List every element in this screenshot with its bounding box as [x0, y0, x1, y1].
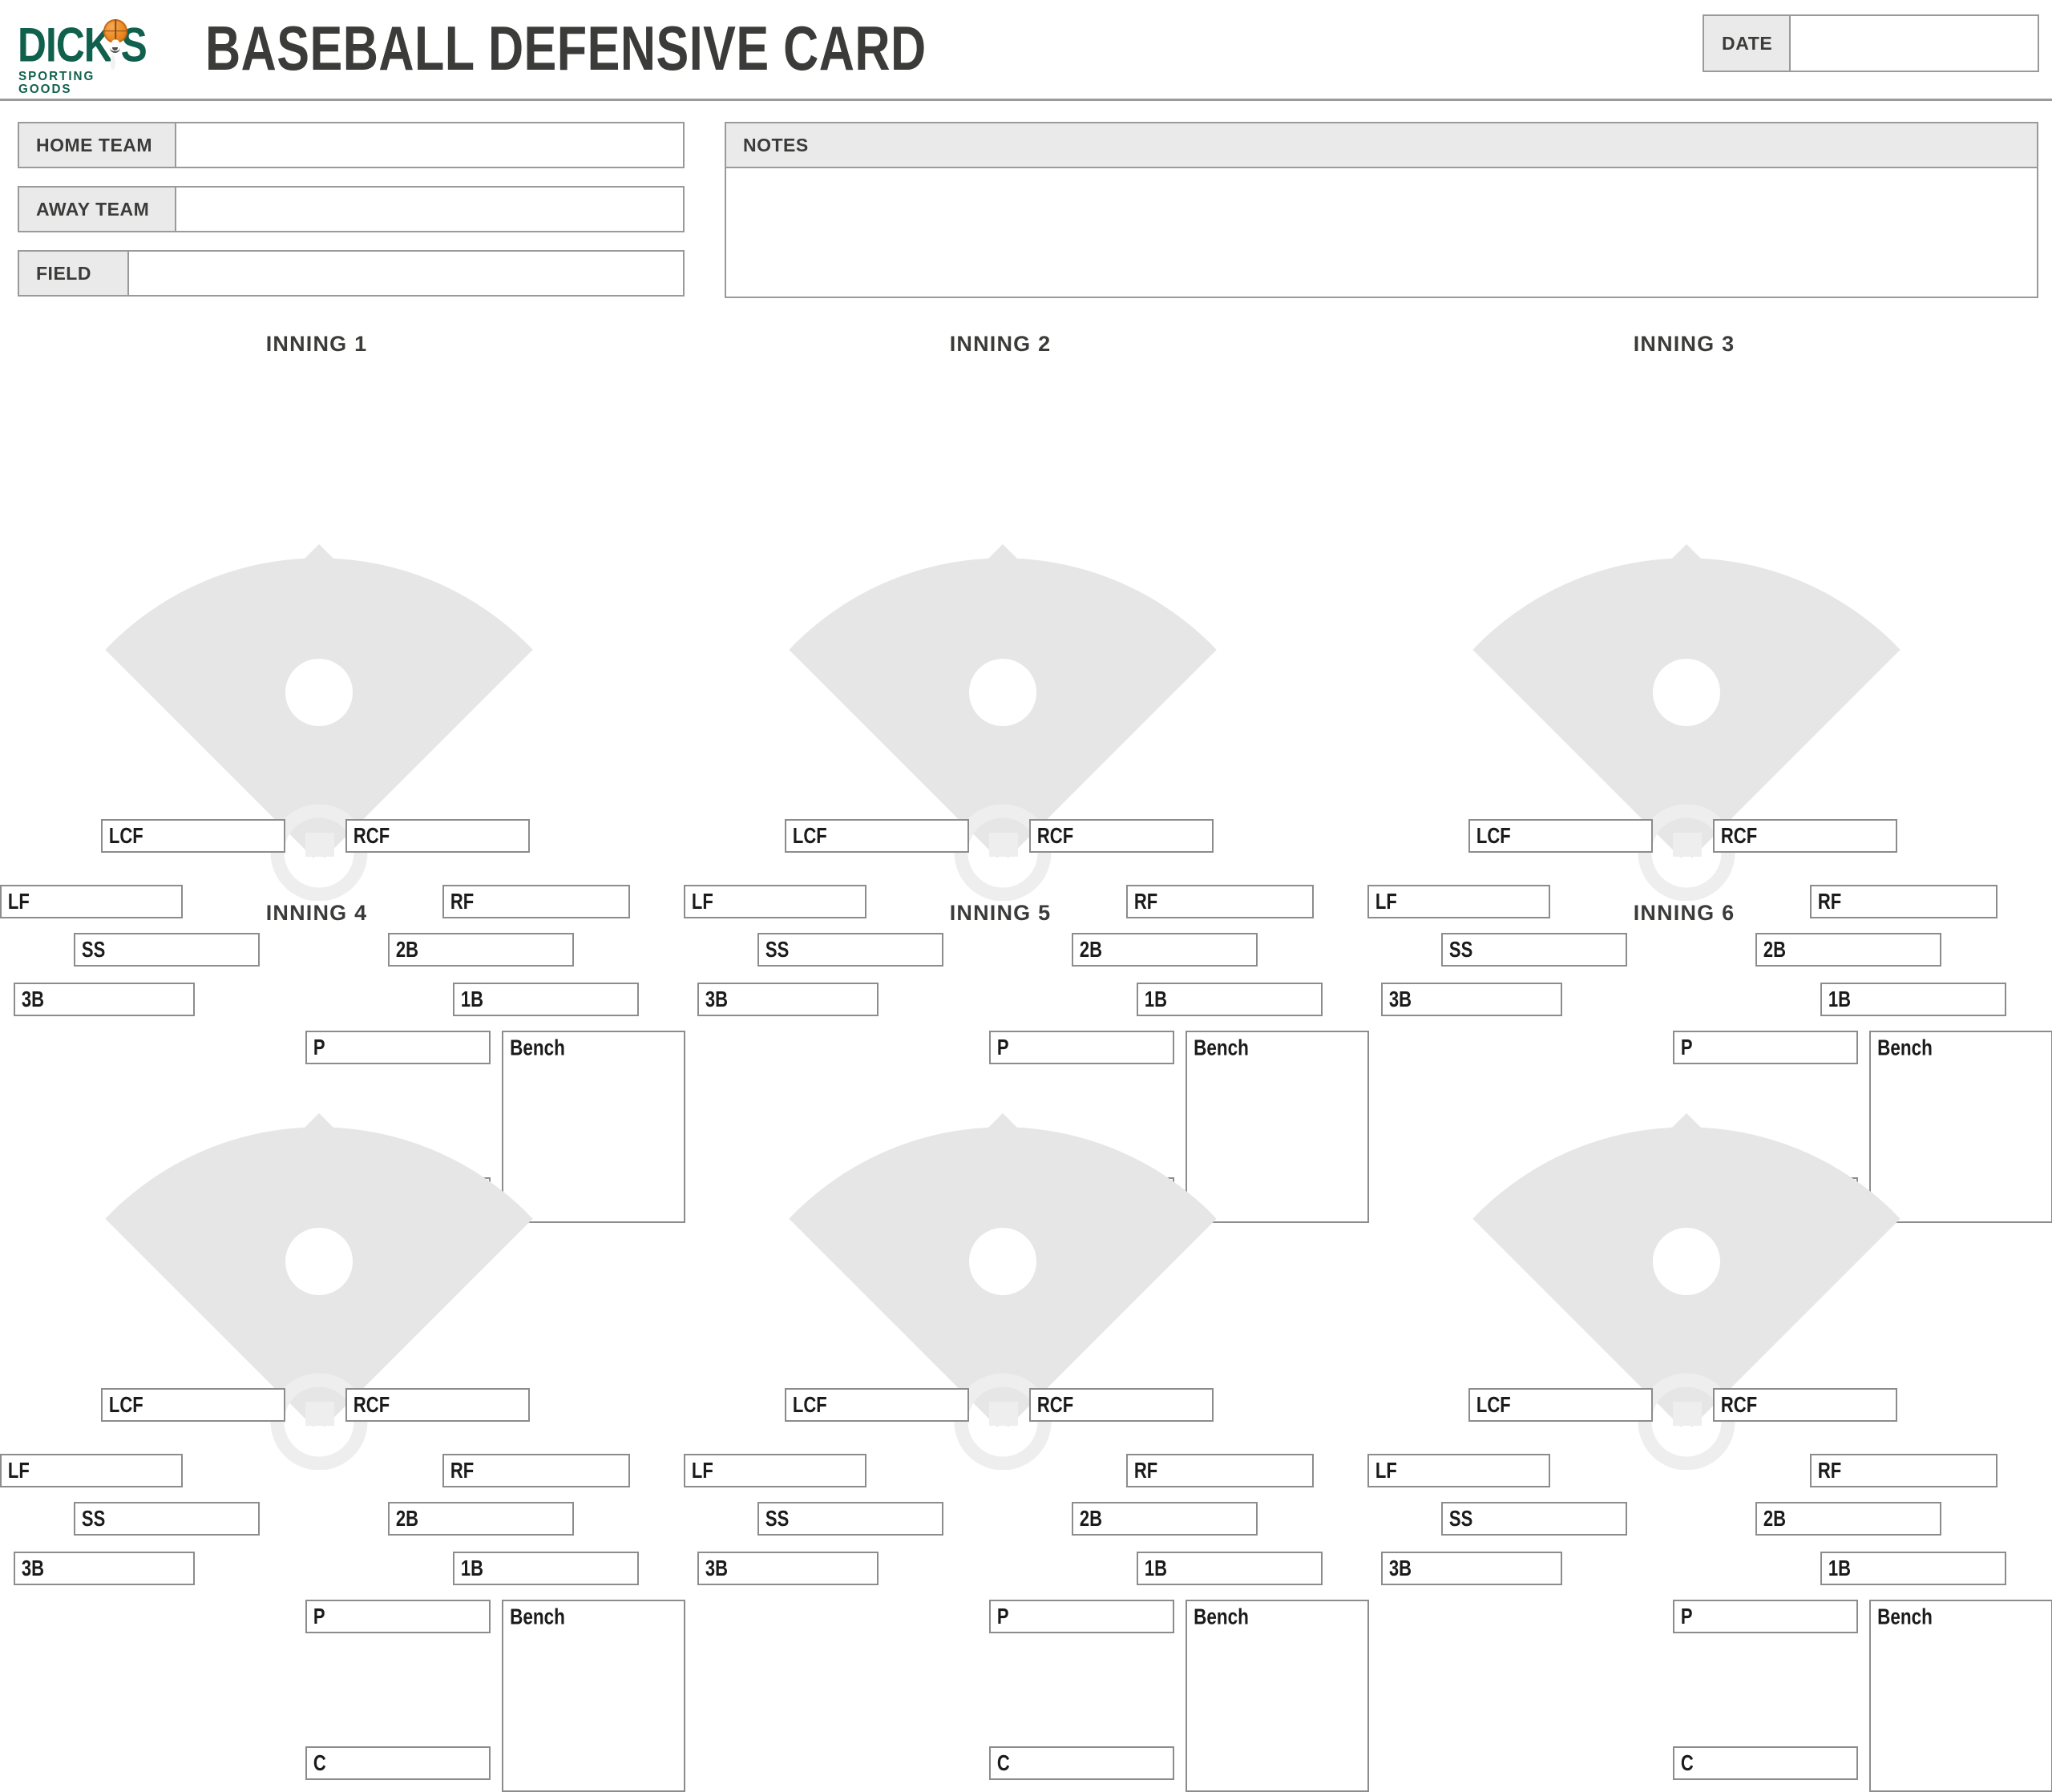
position-box-lcf[interactable]: LCF: [1468, 819, 1653, 853]
position-box-ss[interactable]: SS: [1441, 1502, 1627, 1536]
home-team-input[interactable]: [176, 123, 683, 167]
position-label-rcf: RCF: [347, 1394, 390, 1416]
position-label-lf: LF: [685, 1459, 713, 1482]
field-input[interactable]: [129, 252, 683, 295]
date-field-group: DATE: [1703, 14, 2039, 72]
position-label-rcf: RCF: [1715, 1394, 1757, 1416]
position-box-rcf[interactable]: RCF: [1713, 1388, 1897, 1422]
position-box-2b[interactable]: 2B: [388, 1502, 574, 1536]
position-box-1b[interactable]: 1B: [1137, 1552, 1323, 1585]
position-box-rcf[interactable]: RCF: [345, 1388, 530, 1422]
position-label-1b: 1B: [1138, 1557, 1167, 1580]
position-label-2b: 2B: [390, 1507, 418, 1530]
bench-label: Bench: [1187, 1601, 1249, 1629]
position-label-lcf: LCF: [103, 825, 143, 847]
position-label-p: P: [991, 1605, 1009, 1628]
field-row: FIELD: [18, 250, 685, 297]
position-label-1b: 1B: [454, 1557, 483, 1580]
position-box-2b[interactable]: 2B: [1755, 1502, 1941, 1536]
position-label-lcf: LCF: [786, 825, 827, 847]
position-box-1b[interactable]: 1B: [1820, 1552, 2006, 1585]
position-box-rcf[interactable]: RCF: [345, 819, 530, 853]
logo-tagline: SPORTING GOODS: [18, 71, 151, 96]
bench-box[interactable]: Bench: [1186, 1600, 1369, 1792]
position-box-1b[interactable]: 1B: [453, 1552, 639, 1585]
position-label-lf: LF: [1369, 1459, 1397, 1482]
home-team-label: HOME TEAM: [19, 123, 176, 167]
position-box-rcf[interactable]: RCF: [1029, 1388, 1214, 1422]
position-label-2b: 2B: [1757, 1507, 1786, 1530]
position-label-p: P: [307, 1605, 325, 1628]
inning-title: INNING 1: [0, 332, 633, 357]
dicks-sporting-goods-logo: DICK'S SPORTING GOODS: [14, 13, 159, 87]
inning-title: INNING 3: [1367, 332, 2001, 357]
position-box-lcf[interactable]: LCF: [785, 1388, 969, 1422]
notes-box: NOTES: [725, 122, 2038, 298]
inning-title: INNING 6: [1367, 901, 2001, 926]
position-box-rcf[interactable]: RCF: [1713, 819, 1897, 853]
position-box-3b[interactable]: 3B: [697, 1552, 879, 1585]
bench-label: Bench: [503, 1601, 565, 1629]
logo-mascot-figure-icon: [104, 39, 126, 71]
position-label-rcf: RCF: [1031, 825, 1073, 847]
position-box-rf[interactable]: RF: [442, 1454, 630, 1487]
position-box-lcf[interactable]: LCF: [101, 1388, 285, 1422]
position-box-p[interactable]: P: [1673, 1600, 1858, 1633]
logo-wordmark: DICK'S: [18, 21, 147, 69]
inning-title: INNING 4: [0, 901, 633, 926]
position-label-ss: SS: [75, 1507, 105, 1530]
position-label-1b: 1B: [1822, 1557, 1851, 1580]
position-label-2b: 2B: [1073, 1507, 1102, 1530]
game-info-row: HOME TEAM AWAY TEAM FIELD NOTES: [0, 122, 2052, 314]
position-label-c: C: [1674, 1752, 1694, 1774]
date-label: DATE: [1704, 16, 1791, 71]
position-box-lcf[interactable]: LCF: [101, 819, 285, 853]
bench-box[interactable]: Bench: [502, 1600, 685, 1792]
away-team-input[interactable]: [176, 188, 683, 231]
inning-panel-4: INNING 4: [0, 901, 684, 1470]
position-box-rcf[interactable]: RCF: [1029, 819, 1214, 853]
notes-label: NOTES: [726, 123, 2037, 168]
notes-textarea[interactable]: [726, 168, 2037, 297]
bench-box[interactable]: Bench: [1869, 1600, 2052, 1792]
team-info-column: HOME TEAM AWAY TEAM FIELD: [18, 122, 685, 314]
away-team-label: AWAY TEAM: [19, 188, 176, 231]
position-box-3b[interactable]: 3B: [14, 1552, 195, 1585]
position-label-lf: LF: [2, 1459, 30, 1482]
page-title: BASEBALL DEFENSIVE CARD: [205, 18, 927, 80]
position-label-ss: SS: [1443, 1507, 1472, 1530]
away-team-row: AWAY TEAM: [18, 186, 685, 232]
position-label-c: C: [307, 1752, 326, 1774]
position-box-lcf[interactable]: LCF: [785, 819, 969, 853]
position-box-c[interactable]: C: [1673, 1746, 1858, 1780]
inning-panel-2: INNING 2: [684, 332, 1367, 901]
position-box-rf[interactable]: RF: [1810, 1454, 1997, 1487]
position-label-rf: RF: [1128, 1459, 1157, 1482]
position-box-c[interactable]: C: [305, 1746, 491, 1780]
position-box-lf[interactable]: LF: [1367, 1454, 1550, 1487]
field-label: FIELD: [19, 252, 129, 295]
position-box-p[interactable]: P: [989, 1600, 1174, 1633]
position-label-ss: SS: [759, 1507, 789, 1530]
position-label-c: C: [991, 1752, 1010, 1774]
position-box-2b[interactable]: 2B: [1072, 1502, 1258, 1536]
inning-panel-6: INNING 6: [1367, 901, 2051, 1470]
inning-title: INNING 2: [684, 332, 1317, 357]
position-box-p[interactable]: P: [305, 1600, 491, 1633]
innings-grid: INNING 1: [0, 332, 2052, 1470]
position-box-ss[interactable]: SS: [757, 1502, 943, 1536]
inning-panel-1: INNING 1: [0, 332, 684, 901]
position-box-3b[interactable]: 3B: [1381, 1552, 1562, 1585]
page-header: DICK'S SPORTING GOODS BASEBALL DEFENSIVE…: [0, 0, 2052, 101]
position-label-3b: 3B: [15, 1557, 44, 1580]
position-label-3b: 3B: [699, 1557, 728, 1580]
position-label-lcf: LCF: [103, 1394, 143, 1416]
position-box-ss[interactable]: SS: [74, 1502, 260, 1536]
inning-panel-5: INNING 5: [684, 901, 1367, 1470]
position-label-lcf: LCF: [1470, 825, 1511, 847]
inning-title: INNING 5: [684, 901, 1317, 926]
position-label-rf: RF: [1812, 1459, 1841, 1482]
bench-label: Bench: [1871, 1601, 1933, 1629]
position-label-3b: 3B: [1383, 1557, 1412, 1580]
inning-panel-3: INNING 3: [1367, 332, 2051, 901]
position-label-rcf: RCF: [347, 825, 390, 847]
position-label-lcf: LCF: [786, 1394, 827, 1416]
position-box-rf[interactable]: RF: [1126, 1454, 1314, 1487]
position-box-lf[interactable]: LF: [0, 1454, 183, 1487]
position-box-c[interactable]: C: [989, 1746, 1174, 1780]
position-label-rf: RF: [444, 1459, 474, 1482]
position-label-rcf: RCF: [1715, 825, 1757, 847]
position-box-lcf[interactable]: LCF: [1468, 1388, 1653, 1422]
home-team-row: HOME TEAM: [18, 122, 685, 168]
position-box-lf[interactable]: LF: [684, 1454, 866, 1487]
position-label-lcf: LCF: [1470, 1394, 1511, 1416]
position-label-p: P: [1674, 1605, 1693, 1628]
position-label-rcf: RCF: [1031, 1394, 1073, 1416]
date-input[interactable]: [1791, 16, 2038, 71]
